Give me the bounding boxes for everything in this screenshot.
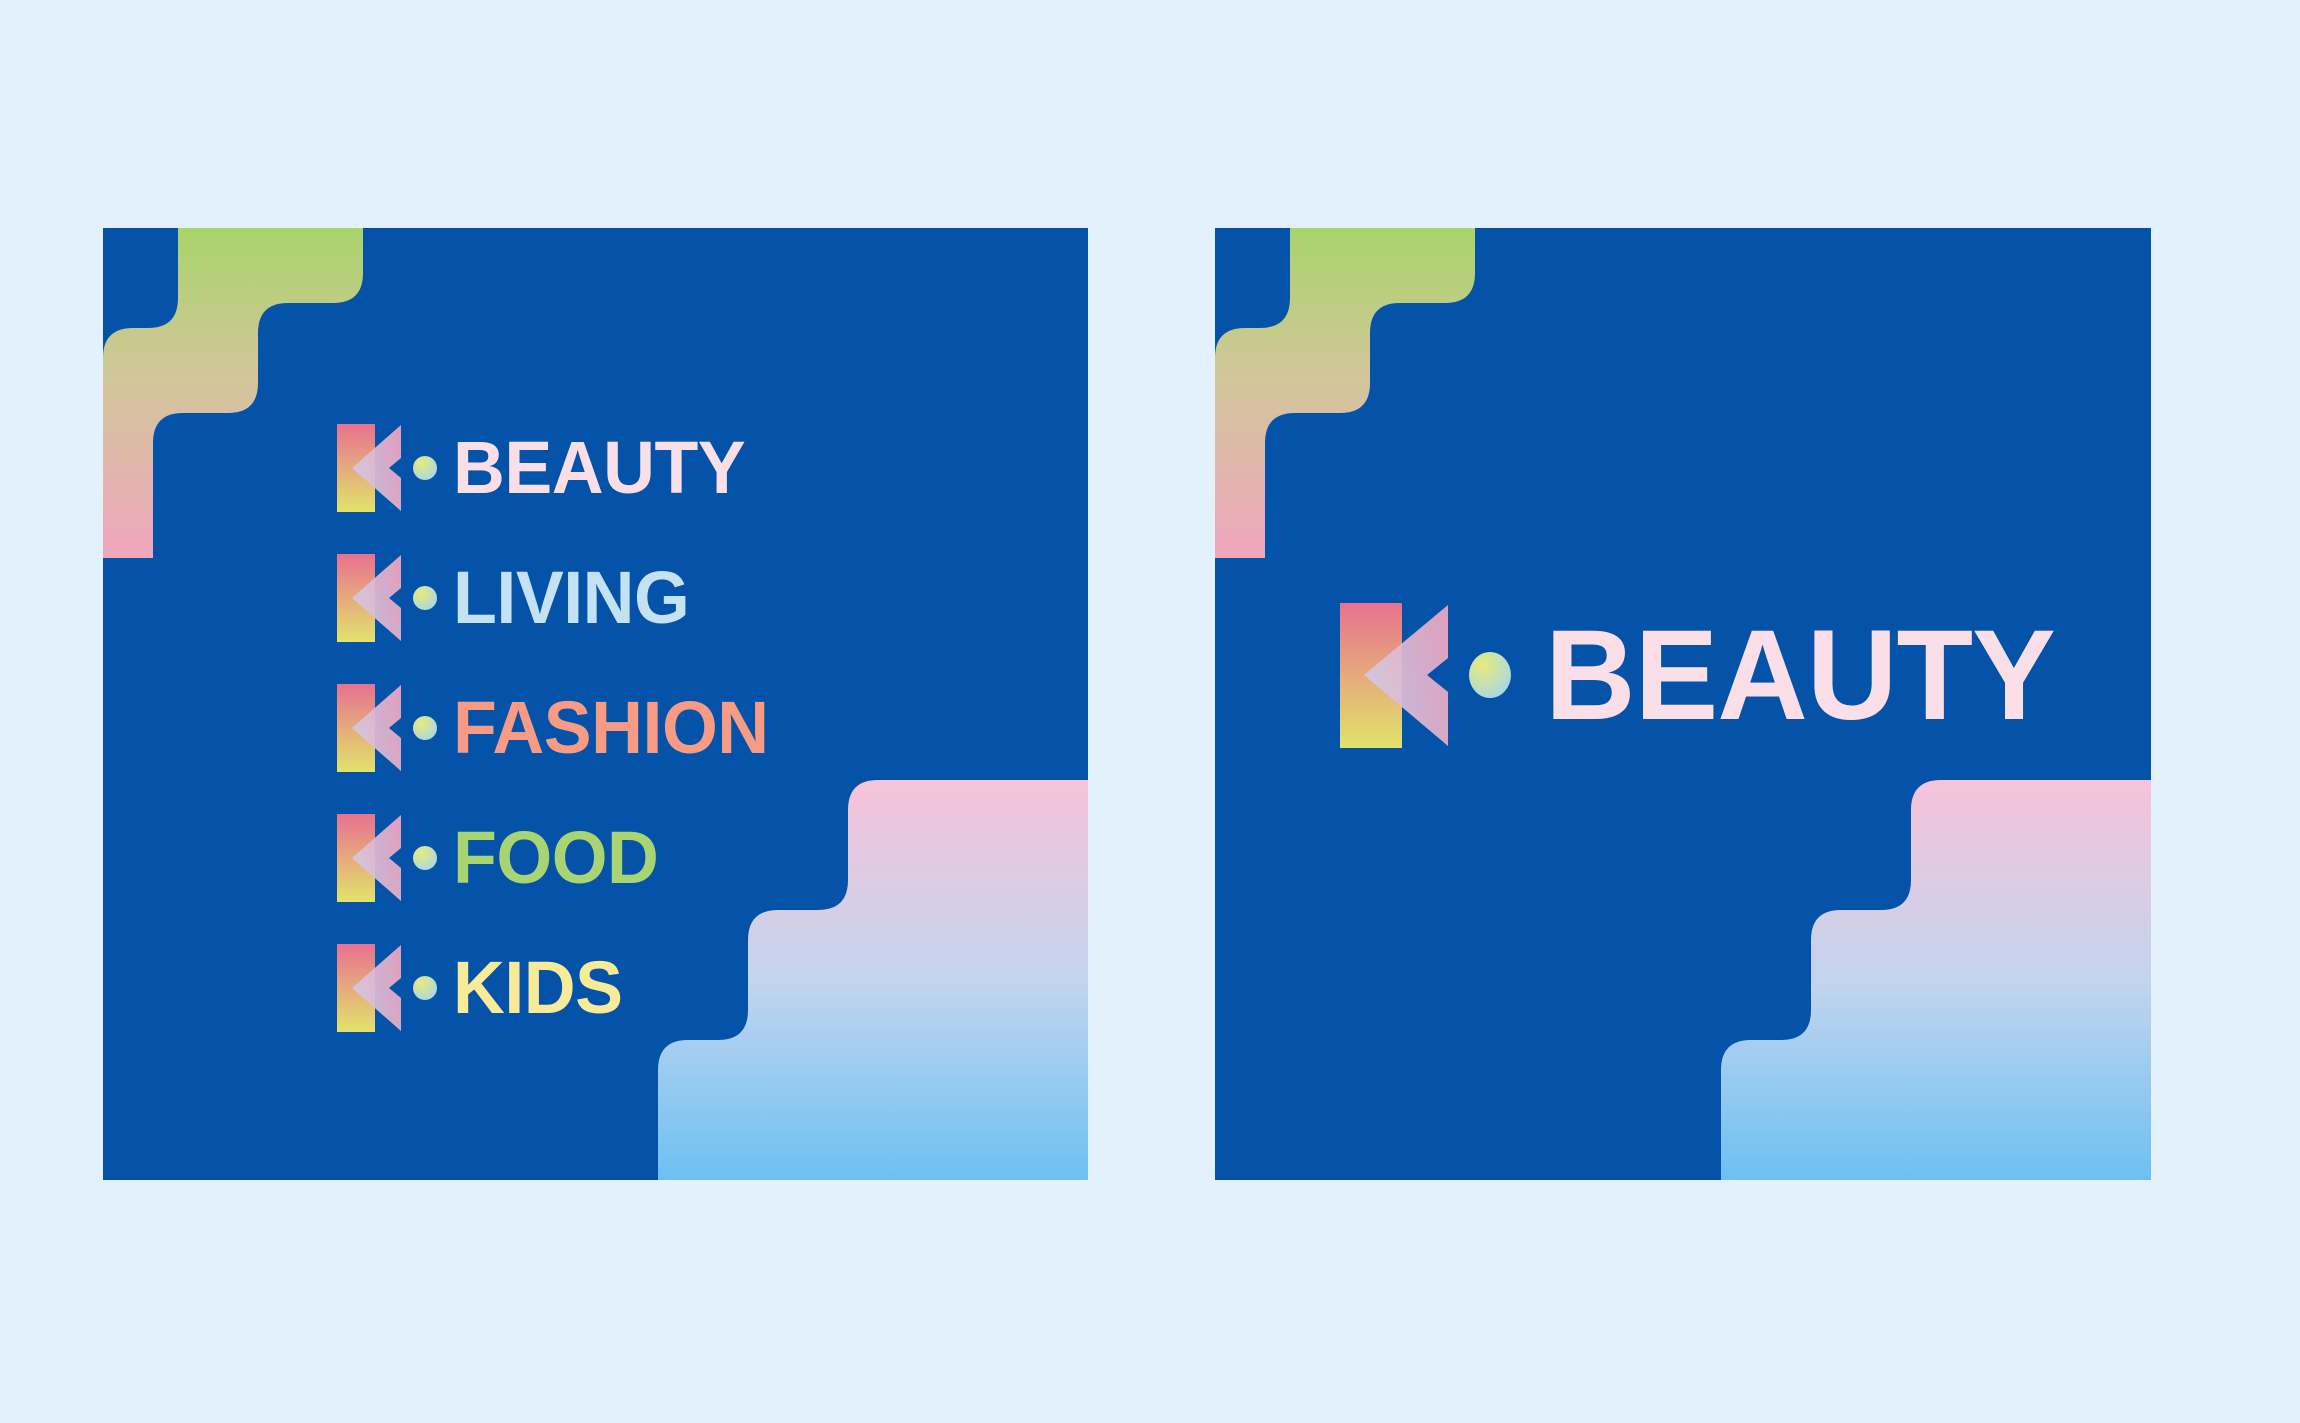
corner-decoration-bottom-right	[1721, 780, 2151, 1180]
hero-logo-label: BEAUTY	[1545, 618, 2055, 733]
sub-brand-row-beauty[interactable]: BEAUTY	[337, 424, 778, 512]
sub-brand-list-card: BEAUTY LIVING	[103, 228, 1088, 1180]
artboard: BEAUTY LIVING	[0, 0, 2300, 1423]
corner-decoration-top-left	[103, 228, 363, 558]
hero-logo-card: BEAUTY	[1215, 228, 2151, 1180]
sub-brand-row-fashion[interactable]: FASHION	[337, 684, 778, 772]
sub-brand-row-food[interactable]: FOOD	[337, 814, 778, 902]
sub-brand-row-list: BEAUTY LIVING	[337, 424, 778, 1032]
k-mark-icon	[337, 684, 437, 772]
sub-brand-label: KIDS	[453, 955, 623, 1022]
corner-decoration-top-left	[1215, 228, 1475, 558]
hero-logo-lockup[interactable]: BEAUTY	[1340, 603, 2065, 748]
sub-brand-row-living[interactable]: LIVING	[337, 554, 778, 642]
sub-brand-label: BEAUTY	[453, 435, 745, 502]
k-mark-icon	[337, 554, 437, 642]
k-mark-icon	[337, 944, 437, 1032]
sub-brand-label: FOOD	[453, 825, 658, 892]
k-mark-icon	[337, 424, 437, 512]
sub-brand-row-kids[interactable]: KIDS	[337, 944, 778, 1032]
k-mark-icon	[1340, 603, 1515, 748]
sub-brand-label: LIVING	[453, 565, 689, 632]
sub-brand-label: FASHION	[453, 695, 769, 762]
k-mark-icon	[337, 814, 437, 902]
